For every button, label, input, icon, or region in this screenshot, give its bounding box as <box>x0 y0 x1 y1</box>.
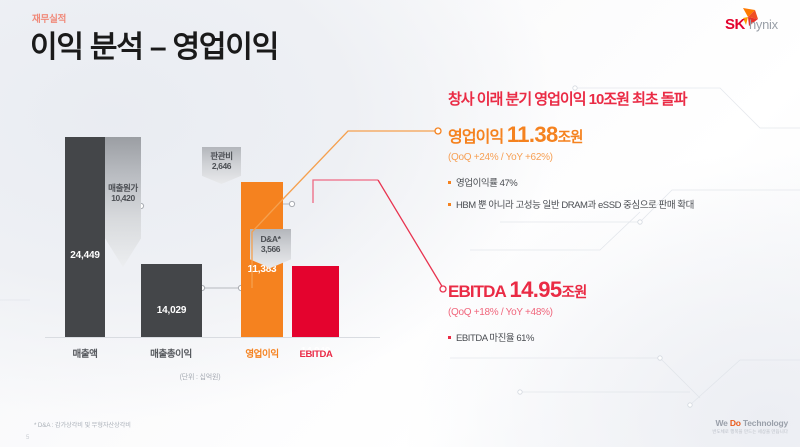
ebitda-kpi: EBITDA 14.95조원 <box>448 277 792 303</box>
operating-bullet-1: 영업이익률 47% <box>448 175 792 189</box>
operating-kpi-change: (QoQ +24% / YoY +62%) <box>448 152 792 163</box>
operating-kpi-label: 영업이익 <box>448 129 503 146</box>
callout-leader-lines <box>0 0 800 447</box>
callout-operating-profit: 창사 이래 분기 영업이익 10조원 최초 돌파 영업이익 11.38조원 (Q… <box>448 88 792 219</box>
slide-root: 재무실적 이익 분석 – 영업이익 SK hynix We Do Technol… <box>0 0 800 447</box>
page-number: 5 <box>26 435 29 441</box>
leader-line-operating <box>252 131 438 288</box>
operating-kpi-suffix: 조원 <box>558 130 583 146</box>
ebitda-kpi-value: 14.95 <box>509 277 561 302</box>
ebitda-bullets: EBITDA 마진율 61% <box>448 330 792 344</box>
ebitda-kpi-suffix: 조원 <box>562 285 587 301</box>
chart-footnote: * D&A : 감가상각비 및 무형자산상각비 <box>34 420 131 429</box>
leader-endpoint-operating <box>435 128 441 134</box>
leader-line-ebitda <box>313 180 443 288</box>
ebitda-kpi-label: EBITDA <box>448 282 506 301</box>
operating-bullet-2: HBM 뿐 아니라 고성능 일반 DRAM과 eSSD 중심으로 판매 확대 <box>448 197 792 211</box>
leader-endpoint-ebitda <box>440 286 446 292</box>
ebitda-bullet-1: EBITDA 마진율 61% <box>448 330 792 344</box>
operating-kpi: 영업이익 11.38조원 <box>448 122 792 148</box>
operating-kpi-value: 11.38 <box>507 122 558 147</box>
operating-headline: 창사 이래 분기 영업이익 10조원 최초 돌파 <box>448 88 792 109</box>
operating-bullets: 영업이익률 47% HBM 뿐 아니라 고성능 일반 DRAM과 eSSD 중심… <box>448 175 792 211</box>
ebitda-kpi-change: (QoQ +18% / YoY +48%) <box>448 307 792 318</box>
callout-ebitda: EBITDA 14.95조원 (QoQ +18% / YoY +48%) EBI… <box>448 277 792 344</box>
